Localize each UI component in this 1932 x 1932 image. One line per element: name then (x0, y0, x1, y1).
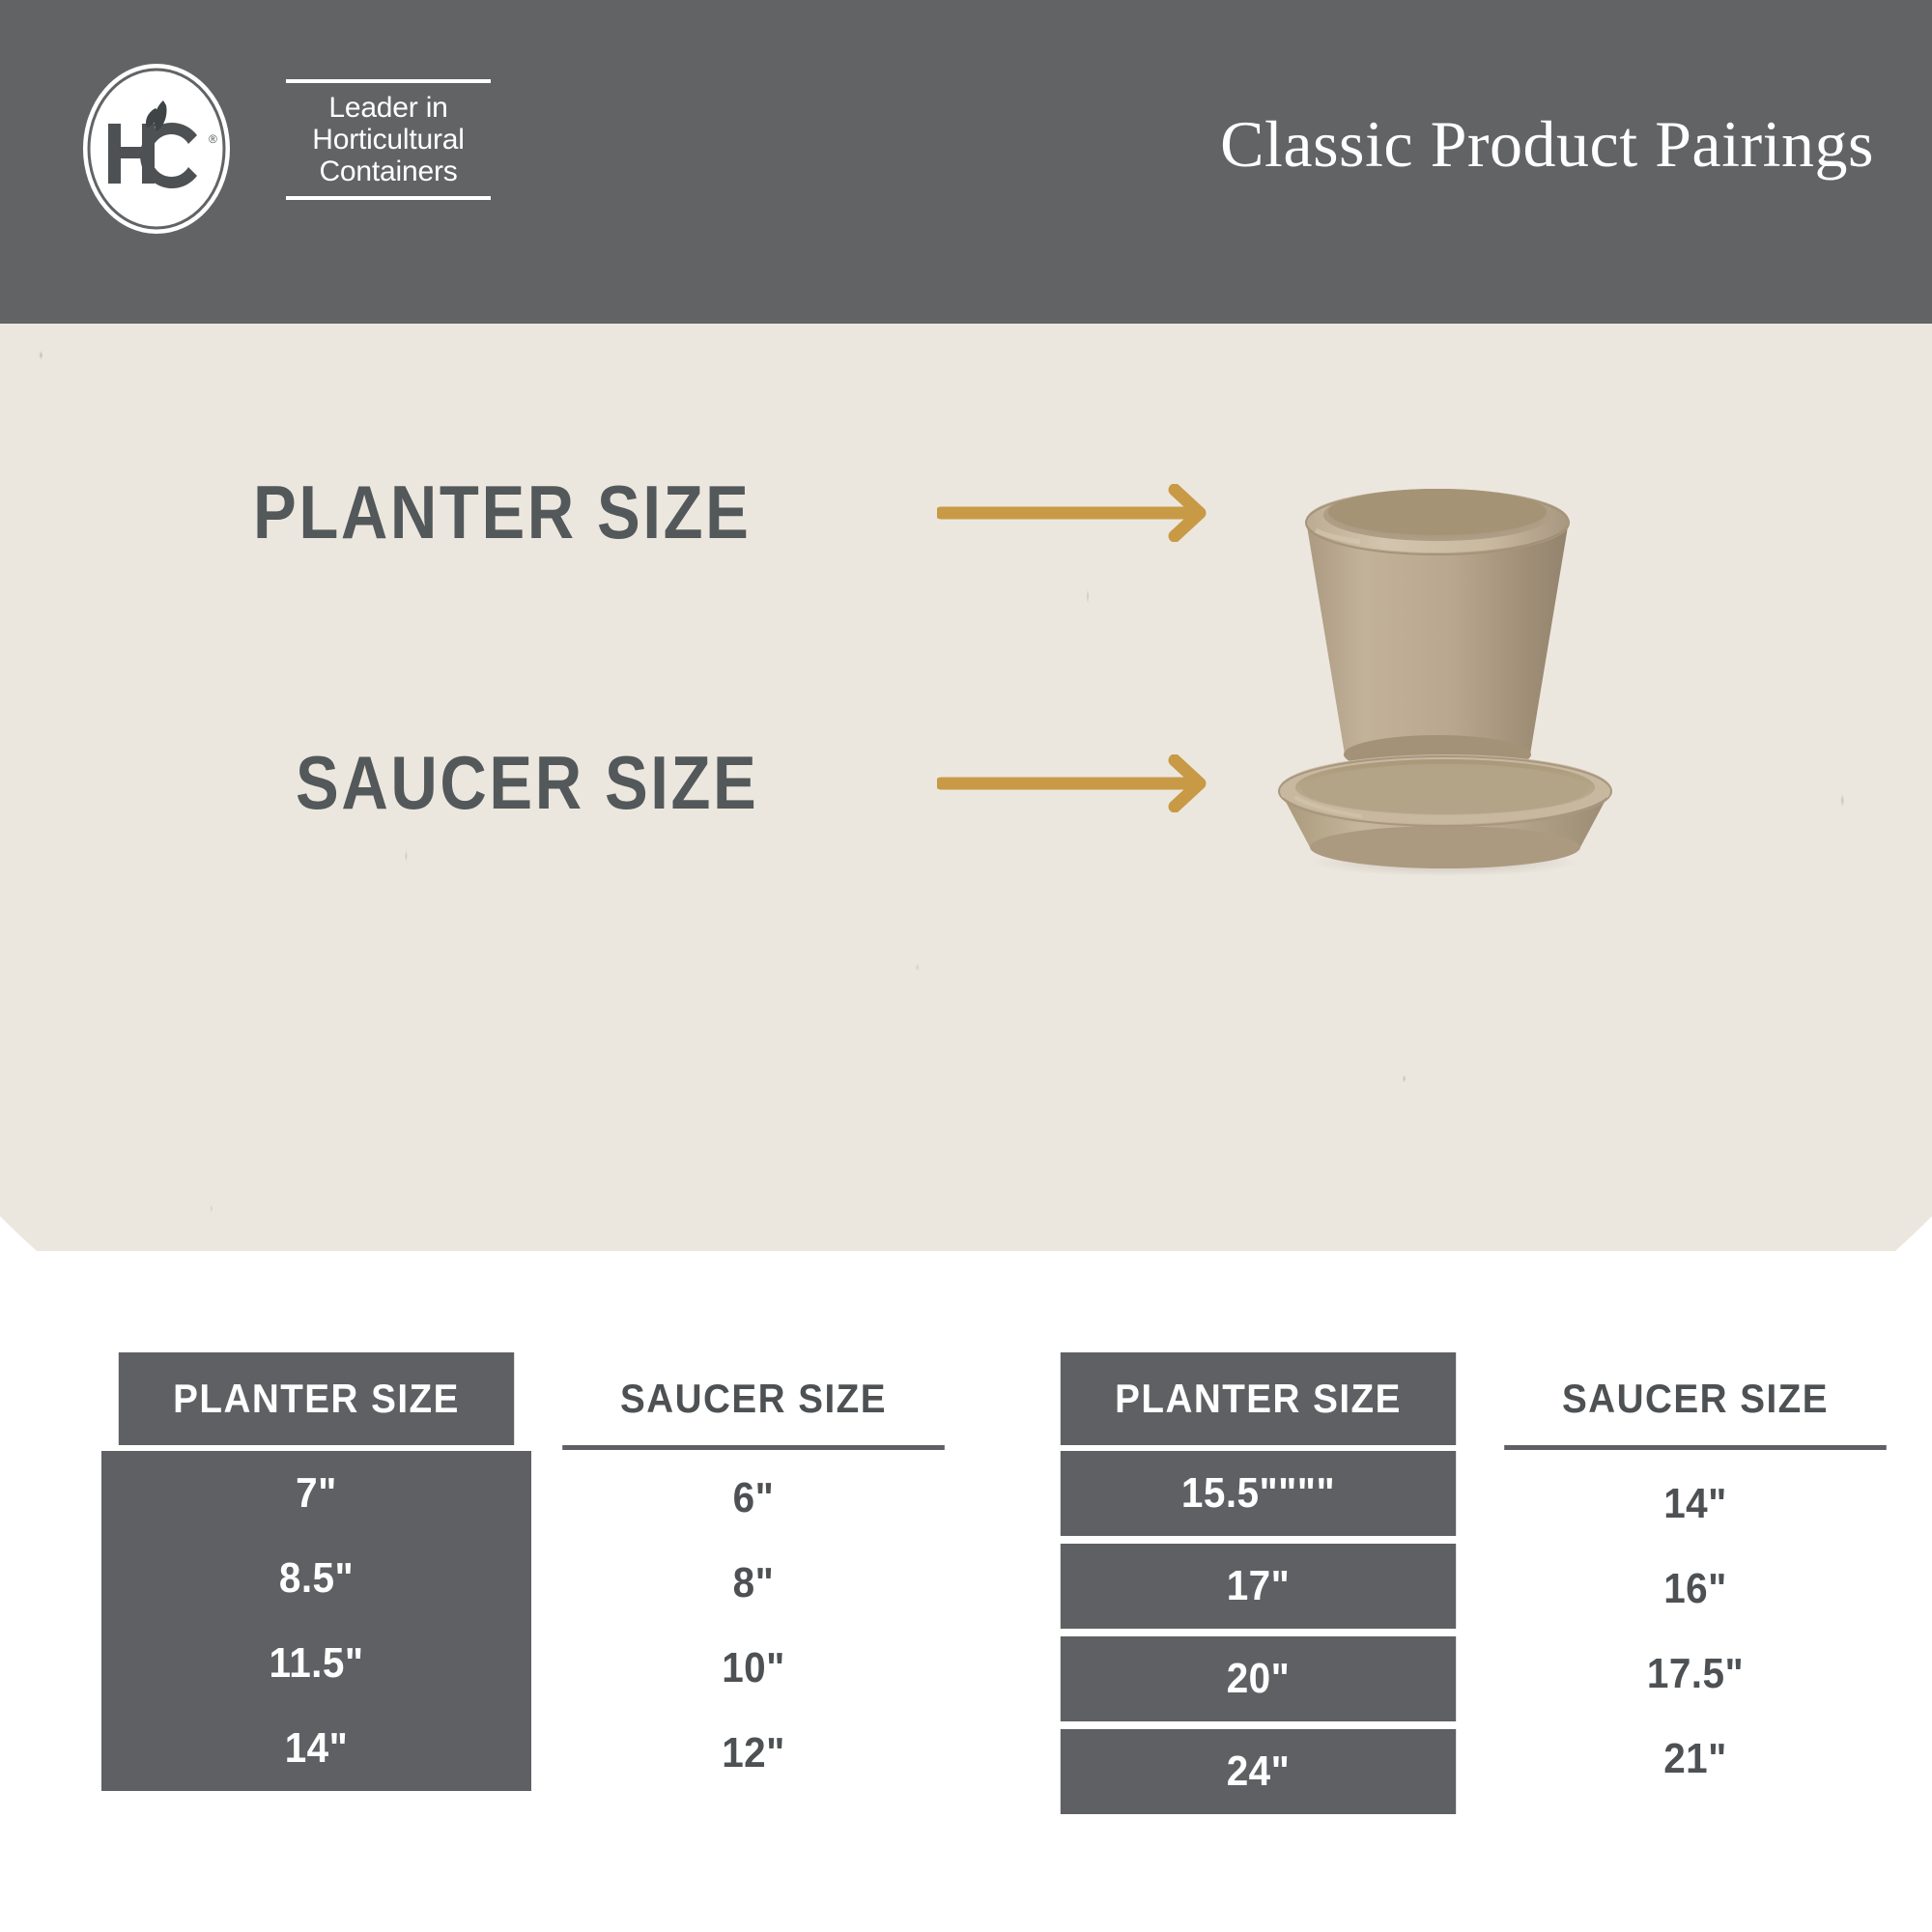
saucer-column-left: SAUCER SIZE 6" 8" 10" 12" (546, 1352, 961, 1796)
right-arrow-icon (937, 754, 1236, 812)
svg-text:®: ® (209, 132, 217, 146)
saucer-values-left: 6" 8" 10" 12" (546, 1456, 961, 1796)
hero-label-saucer-size: SAUCER SIZE (296, 739, 758, 827)
table-row: 10" (562, 1626, 945, 1711)
table-row: 16" (1504, 1547, 1887, 1632)
size-table-left: PLANTER SIZE 7" 8.5" 11.5" 14" SAUCER SI… (101, 1352, 952, 1855)
planter-values-right: 15.5"""" 17" 20" 24" (1043, 1445, 1473, 1814)
hero-panel: PLANTER SIZE (0, 324, 1932, 1251)
infographic-page: ® Leader in Horticultural Containers Cla… (0, 0, 1932, 1932)
brand-tagline-block: Leader in Horticultural Containers (286, 79, 491, 200)
column-header-planter-size: PLANTER SIZE (119, 1352, 514, 1445)
table-row: 14" (1504, 1462, 1887, 1547)
table-row: 20" (1061, 1636, 1456, 1721)
column-header-planter-size: PLANTER SIZE (1061, 1352, 1456, 1445)
tagline-rule-bottom (286, 196, 491, 200)
brand-lockup: ® Leader in Horticultural Containers (66, 58, 510, 237)
table-row: 6" (562, 1456, 945, 1541)
column-header-saucer-size: SAUCER SIZE (1504, 1352, 1887, 1450)
hc-logo-icon: ® (66, 58, 247, 240)
planter-column-right: PLANTER SIZE 15.5"""" 17" 20" 24" (1043, 1352, 1473, 1814)
size-chart-tables: PLANTER SIZE 7" 8.5" 11.5" 14" SAUCER SI… (0, 1352, 1932, 1874)
column-header-saucer-size: SAUCER SIZE (562, 1352, 945, 1450)
saucer-image (1256, 747, 1633, 882)
brand-tagline: Leader in Horticultural Containers (286, 83, 491, 196)
table-row: 15.5"""" (1061, 1451, 1456, 1536)
planter-pot-image (1256, 465, 1613, 783)
right-arrow-icon (937, 484, 1236, 542)
table-row: 8" (562, 1541, 945, 1626)
saucer-values-right: 14" 16" 17.5" 21" (1488, 1462, 1903, 1802)
page-title: Classic Product Pairings (1220, 106, 1874, 183)
planter-values-left: 7" 8.5" 11.5" 14" (101, 1445, 531, 1791)
table-row: 7" (119, 1451, 514, 1536)
header-bar: ® Leader in Horticultural Containers Cla… (0, 0, 1932, 324)
table-row: 17" (1061, 1544, 1456, 1629)
table-row: 17.5" (1504, 1632, 1887, 1717)
table-row: 21" (1504, 1717, 1887, 1802)
size-table-right: PLANTER SIZE 15.5"""" 17" 20" 24" SAUCER… (1043, 1352, 1893, 1855)
table-row: 12" (562, 1711, 945, 1796)
table-row: 8.5" (119, 1536, 514, 1621)
table-row: 24" (1061, 1729, 1456, 1814)
planter-column-left: PLANTER SIZE 7" 8.5" 11.5" 14" (101, 1352, 531, 1791)
saucer-column-right: SAUCER SIZE 14" 16" 17.5" 21" (1488, 1352, 1903, 1802)
table-row: 11.5" (119, 1621, 514, 1706)
hero-label-planter-size: PLANTER SIZE (253, 469, 751, 556)
table-row: 14" (119, 1706, 514, 1791)
